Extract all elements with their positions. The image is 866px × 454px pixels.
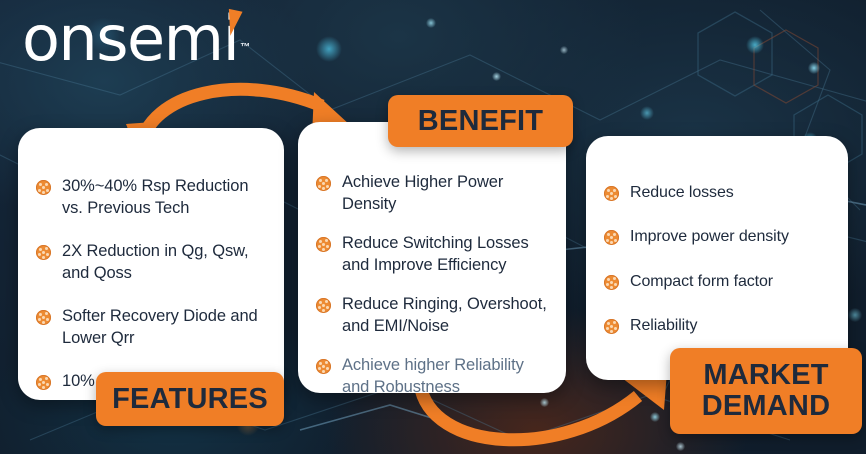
list-item-label: Achieve higher Reliability and Robustnes…: [342, 355, 548, 399]
card-market-demand: Reduce losses Improve power density Comp…: [586, 136, 848, 380]
list-item: Achieve Higher Power Density: [316, 172, 548, 216]
badge-benefit: BENEFIT: [388, 95, 573, 147]
molecule-bullet-icon: [36, 375, 51, 390]
card-features: 30%~40% Rsp Reduction vs. Previous Tech …: [18, 128, 284, 400]
molecule-bullet-icon: [604, 230, 619, 245]
list-item-label: Reduce Switching Losses and Improve Effi…: [342, 233, 548, 277]
list-item-label: Softer Recovery Diode and Lower Qrr: [62, 306, 266, 350]
molecule-bullet-icon: [36, 310, 51, 325]
molecule-bullet-icon: [316, 359, 331, 374]
list-item: Reduce Switching Losses and Improve Effi…: [316, 233, 548, 277]
market-bullet-list: Reduce losses Improve power density Comp…: [604, 160, 830, 336]
trademark-symbol: ™: [240, 42, 250, 53]
badge-market-label-line1: MARKET: [703, 360, 828, 391]
list-item-label: Reduce losses: [630, 182, 734, 203]
list-item-label: Achieve Higher Power Density: [342, 172, 548, 216]
features-bullet-list: 30%~40% Rsp Reduction vs. Previous Tech …: [36, 152, 266, 393]
list-item-label: Reduce Ringing, Overshoot, and EMI/Noise: [342, 294, 548, 338]
list-item: 2X Reduction in Qg, Qsw, and Qoss: [36, 241, 266, 285]
list-item-label: Improve power density: [630, 226, 789, 247]
infographic-canvas: onsemi ™ 30%~40% Rsp Reduction vs. Previ…: [0, 0, 866, 454]
list-item: Reduce Ringing, Overshoot, and EMI/Noise: [316, 294, 548, 338]
molecule-bullet-icon: [36, 245, 51, 260]
card-benefit: Achieve Higher Power Density Reduce Swit…: [298, 122, 566, 393]
onsemi-logo: onsemi ™: [22, 8, 250, 70]
badge-features: FEATURES: [96, 372, 284, 426]
list-item-label: 30%~40% Rsp Reduction vs. Previous Tech: [62, 176, 266, 220]
benefit-bullet-list: Achieve Higher Power Density Reduce Swit…: [316, 146, 548, 399]
molecule-bullet-icon: [316, 298, 331, 313]
list-item: Achieve higher Reliability and Robustnes…: [316, 355, 548, 399]
molecule-bullet-icon: [316, 176, 331, 191]
molecule-bullet-icon: [36, 180, 51, 195]
logo-wordmark: onsemi: [22, 8, 238, 70]
list-item-label: 2X Reduction in Qg, Qsw, and Qoss: [62, 241, 266, 285]
list-item: Compact form factor: [604, 271, 830, 292]
list-item: Softer Recovery Diode and Lower Qrr: [36, 306, 266, 350]
list-item-label: Compact form factor: [630, 271, 773, 292]
list-item: 30%~40% Rsp Reduction vs. Previous Tech: [36, 176, 266, 220]
molecule-bullet-icon: [316, 237, 331, 252]
molecule-bullet-icon: [604, 275, 619, 290]
list-item: Reliability: [604, 315, 830, 336]
badge-market-label-line2: DEMAND: [702, 391, 830, 422]
list-item-label: Reliability: [630, 315, 697, 336]
badge-features-label: FEATURES: [112, 383, 268, 416]
molecule-bullet-icon: [604, 186, 619, 201]
molecule-bullet-icon: [604, 319, 619, 334]
list-item: Reduce losses: [604, 182, 830, 203]
list-item: Improve power density: [604, 226, 830, 247]
badge-benefit-label: BENEFIT: [418, 105, 543, 138]
badge-market-demand: MARKET DEMAND: [670, 348, 862, 434]
